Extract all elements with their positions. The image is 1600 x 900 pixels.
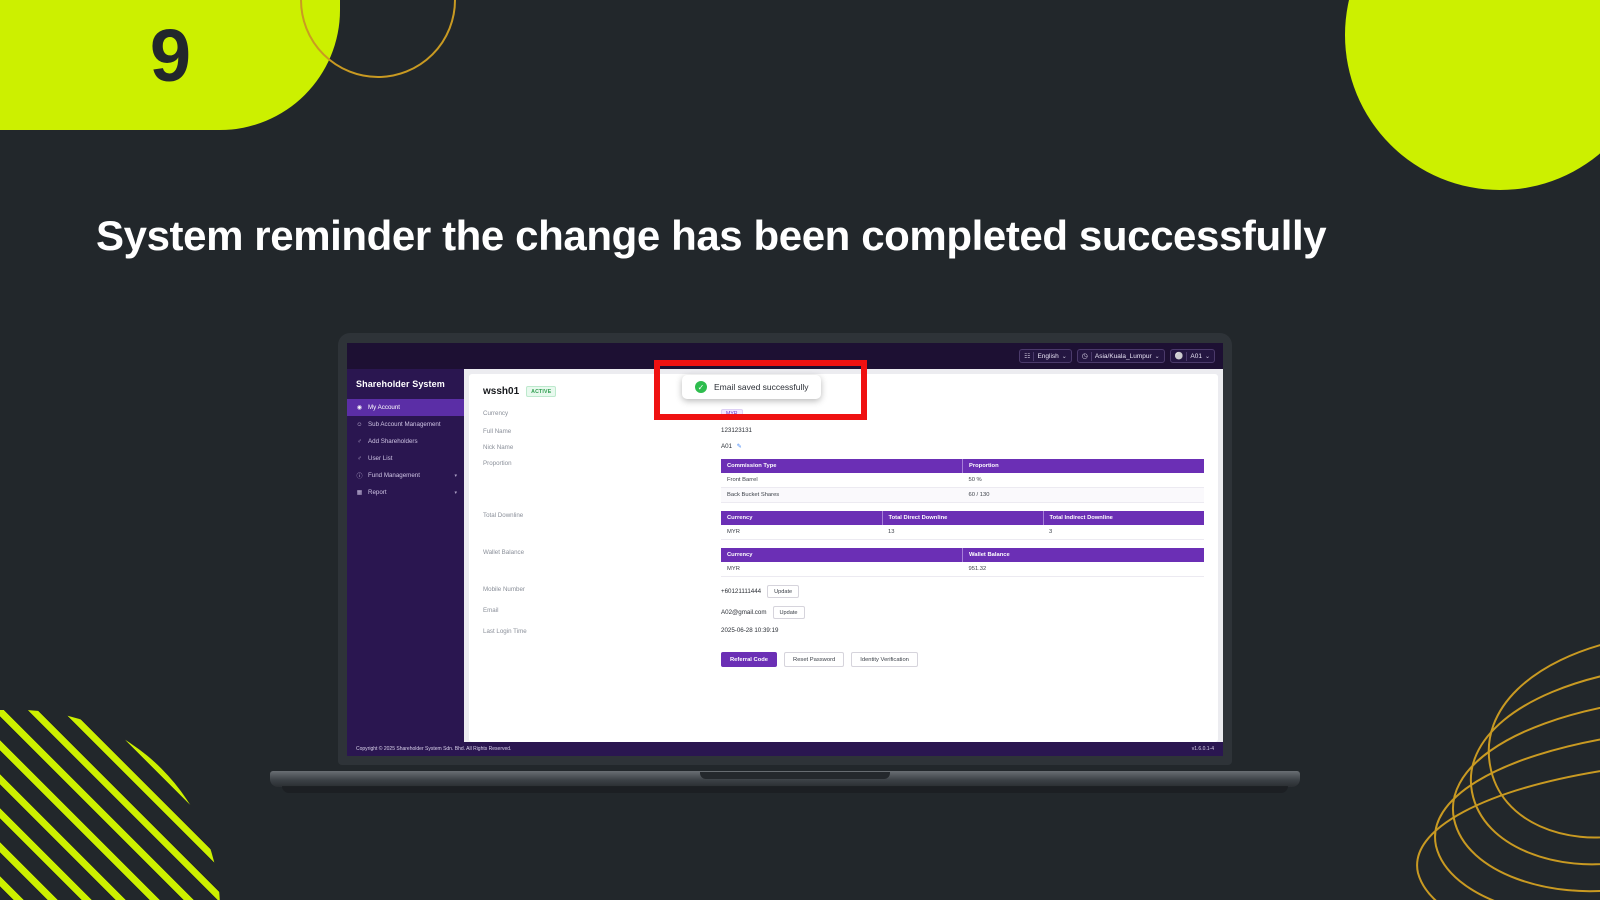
sidebar-item-report[interactable]: ▦ Report ▾: [347, 484, 464, 501]
divider: [1033, 352, 1034, 361]
table-header-row: Currency Total Direct Downline Total Ind…: [721, 511, 1204, 525]
field-value: 2025-06-28 10:39:19: [721, 627, 1204, 635]
version-text: v1.6.0.1-4: [1192, 746, 1214, 752]
cell: Front Barrel: [721, 473, 963, 488]
field-label: Proportion: [483, 459, 721, 503]
report-icon: ▦: [356, 489, 363, 496]
field-value: Currency Wallet Balance MYR 951.32: [721, 548, 1204, 577]
coin-icon: ⓘ: [356, 471, 363, 480]
page-title: System reminder the change has been comp…: [96, 212, 1326, 260]
spacer: [483, 643, 721, 667]
user-plus-icon: ♂: [356, 439, 363, 445]
action-row: Referral Code Reset Password Identity Ve…: [483, 643, 1204, 667]
divider: [1091, 352, 1092, 361]
field-value: A02@gmail.com Update: [721, 606, 1204, 619]
downline-table: Currency Total Direct Downline Total Ind…: [721, 511, 1204, 540]
cell: MYR: [721, 525, 882, 540]
corner-circle-decoration: [1345, 0, 1600, 190]
field-value: Commission Type Proportion Front Barrel …: [721, 459, 1204, 503]
field-row-mobile-number: Mobile Number +60121111444 Update: [483, 585, 1204, 598]
table-row: MYR 951.32: [721, 562, 1204, 577]
dashboard-icon: ◉: [356, 404, 363, 411]
cell: 50 %: [963, 473, 1205, 488]
timezone-selector[interactable]: ◷ Asia/Kuala_Lumpur ⌄: [1077, 349, 1165, 363]
user-icon: ⚪: [1175, 352, 1184, 360]
column-header: Currency: [721, 511, 882, 525]
update-email-button[interactable]: Update: [773, 606, 805, 619]
field-label: Total Downline: [483, 511, 721, 540]
column-header: Currency: [721, 548, 963, 562]
divider: [1186, 352, 1187, 361]
app-body: Shareholder System ◉ My Account ☺ Sub Ac…: [347, 369, 1223, 742]
laptop-mockup: ☷ English ⌄ ◷ Asia/Kuala_Lumpur ⌄: [270, 333, 1300, 793]
sidebar-item-label: Add Shareholders: [368, 438, 457, 445]
chevron-down-icon: ▾: [454, 490, 457, 496]
referral-code-button[interactable]: Referral Code: [721, 652, 777, 667]
cell: MYR: [721, 562, 963, 577]
table-row: Front Barrel 50 %: [721, 473, 1204, 488]
account-value: A01: [1190, 353, 1202, 360]
content-area: wssh01 ACTIVE Currency MYR: [464, 369, 1223, 742]
chevron-down-icon: ⌄: [1062, 353, 1067, 360]
sidebar-item-label: My Account: [368, 404, 457, 411]
field-value: +60121111444 Update: [721, 585, 1204, 598]
field-label: Email: [483, 606, 721, 619]
field-row-proportion: Proportion Commission Type Proportion: [483, 459, 1204, 503]
identity-verification-button[interactable]: Identity Verification: [851, 652, 918, 667]
cell: 60 / 130: [963, 488, 1205, 503]
field-value: Currency Total Direct Downline Total Ind…: [721, 511, 1204, 540]
account-name: wssh01: [483, 386, 519, 397]
sidebar-nav: ◉ My Account ☺ Sub Account Management ♂ …: [347, 399, 464, 501]
field-value: A01 ✎: [721, 443, 1204, 451]
slide-number-badge: 9: [0, 0, 340, 130]
sidebar-item-label: Fund Management: [368, 472, 449, 479]
diagonal-stripes-decoration: [0, 710, 220, 900]
cell: 3: [1043, 525, 1204, 540]
language-value: English: [1037, 353, 1058, 360]
nick-name-value: A01: [721, 443, 732, 450]
cell: 951.32: [963, 562, 1205, 577]
account-detail-card: wssh01 ACTIVE Currency MYR: [469, 374, 1218, 742]
field-row-wallet-balance: Wallet Balance Currency Wallet Balance: [483, 548, 1204, 577]
field-label: Full Name: [483, 427, 721, 435]
field-row-total-downline: Total Downline Currency Total Direct Dow…: [483, 511, 1204, 540]
cell: 13: [882, 525, 1043, 540]
table-header-row: Currency Wallet Balance: [721, 548, 1204, 562]
table-row: MYR 13 3: [721, 525, 1204, 540]
field-row-last-login: Last Login Time 2025-06-28 10:39:19: [483, 627, 1204, 635]
laptop-foot: [282, 786, 1288, 793]
proportion-table: Commission Type Proportion Front Barrel …: [721, 459, 1204, 503]
slide: 9 System reminder the change has been co…: [0, 0, 1600, 900]
sidebar-item-add-shareholders[interactable]: ♂ Add Shareholders: [347, 433, 464, 450]
user-list-icon: ♂: [356, 456, 363, 462]
sidebar-item-fund-management[interactable]: ⓘ Fund Management ▾: [347, 467, 464, 484]
toast-message: Email saved successfully: [714, 382, 808, 392]
sidebar-item-label: Sub Account Management: [368, 421, 457, 428]
clock-icon: ◷: [1082, 352, 1088, 360]
table-row: Back Bucket Shares 60 / 130: [721, 488, 1204, 503]
status-badge: ACTIVE: [526, 386, 556, 397]
sidebar-item-label: User List: [368, 455, 457, 462]
sidebar-item-sub-account-management[interactable]: ☺ Sub Account Management: [347, 416, 464, 433]
chevron-down-icon: ⌄: [1205, 353, 1210, 360]
field-row-full-name: Full Name 123123131: [483, 427, 1204, 435]
field-label: Nick Name: [483, 443, 721, 451]
button-group: Referral Code Reset Password Identity Ve…: [721, 652, 1204, 667]
reset-password-button[interactable]: Reset Password: [784, 652, 844, 667]
mobile-number-value: +60121111444: [721, 588, 761, 595]
email-value: A02@gmail.com: [721, 609, 767, 616]
sidebar: Shareholder System ◉ My Account ☺ Sub Ac…: [347, 369, 464, 742]
column-header: Commission Type: [721, 459, 963, 473]
wallet-table: Currency Wallet Balance MYR 951.32: [721, 548, 1204, 577]
chevron-down-icon: ▾: [454, 473, 457, 479]
update-mobile-button[interactable]: Update: [767, 585, 799, 598]
field-label: Mobile Number: [483, 585, 721, 598]
cell: Back Bucket Shares: [721, 488, 963, 503]
laptop-notch: [700, 772, 890, 779]
sidebar-item-my-account[interactable]: ◉ My Account: [347, 399, 464, 416]
slide-number: 9: [150, 13, 190, 98]
account-menu[interactable]: ⚪ A01 ⌄: [1170, 349, 1215, 363]
sidebar-item-label: Report: [368, 489, 449, 496]
field-label: Last Login Time: [483, 627, 721, 635]
app-footer: Copyright © 2025 Shareholder System Sdn.…: [347, 742, 1223, 756]
sidebar-item-user-list[interactable]: ♂ User List: [347, 450, 464, 467]
field-row-nick-name: Nick Name A01 ✎: [483, 443, 1204, 451]
globe-icon: ☷: [1024, 352, 1030, 360]
column-header: Proportion: [963, 459, 1205, 473]
timezone-value: Asia/Kuala_Lumpur: [1095, 353, 1152, 360]
language-selector[interactable]: ☷ English ⌄: [1019, 349, 1072, 363]
field-value: 123123131: [721, 427, 1204, 435]
laptop-screen: ☷ English ⌄ ◷ Asia/Kuala_Lumpur ⌄: [347, 343, 1223, 756]
toast-notification: ✓ Email saved successfully: [682, 375, 821, 399]
column-header: Wallet Balance: [963, 548, 1205, 562]
table-header-row: Commission Type Proportion: [721, 459, 1204, 473]
field-label: Wallet Balance: [483, 548, 721, 577]
users-icon: ☺: [356, 422, 363, 428]
edit-pencil-icon[interactable]: ✎: [737, 444, 742, 450]
laptop-lid: ☷ English ⌄ ◷ Asia/Kuala_Lumpur ⌄: [338, 333, 1232, 765]
copyright-text: Copyright © 2025 Shareholder System Sdn.…: [356, 746, 511, 752]
column-header: Total Indirect Downline: [1043, 511, 1204, 525]
brand-title: Shareholder System: [347, 369, 464, 399]
action-buttons: Referral Code Reset Password Identity Ve…: [721, 643, 1204, 667]
field-row-email: Email A02@gmail.com Update: [483, 606, 1204, 619]
chevron-down-icon: ⌄: [1155, 353, 1160, 360]
check-circle-icon: ✓: [695, 381, 707, 393]
column-header: Total Direct Downline: [882, 511, 1043, 525]
